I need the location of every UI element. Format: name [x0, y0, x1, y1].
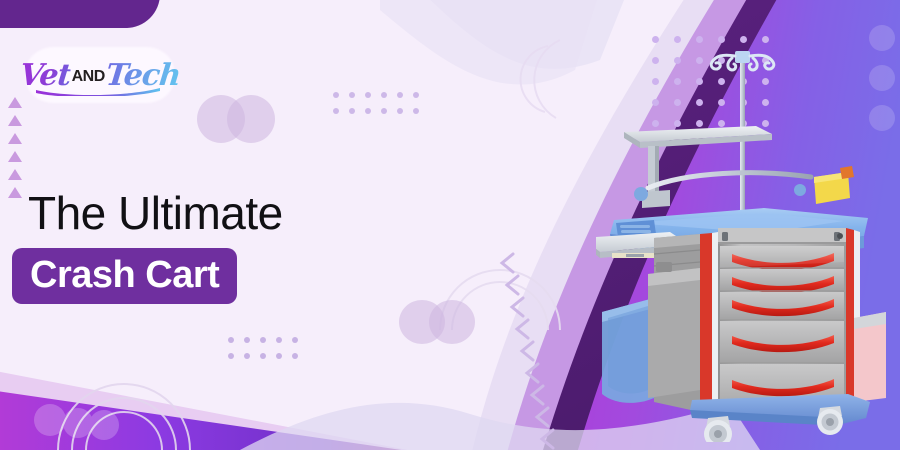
utility-bin-right	[854, 312, 886, 402]
crash-cart-image	[596, 22, 886, 442]
dot-grid-light-top	[333, 92, 429, 114]
rear-cabinet	[648, 262, 700, 398]
venn-circles-lower	[399, 300, 479, 344]
logo-swoosh-icon	[34, 86, 162, 96]
promo-banner: VetANDTech The Ultimate Crash Cart	[0, 0, 900, 450]
rail-knob	[794, 184, 806, 196]
subhead-banner: Crash Cart	[12, 248, 237, 304]
sharps-container	[814, 166, 854, 204]
triangle-icon	[8, 97, 22, 108]
triangle-icon	[8, 187, 22, 198]
triangle-icon	[8, 151, 22, 162]
triangle-icon	[8, 133, 22, 144]
triangle-column	[8, 97, 22, 205]
triangle-icon	[8, 169, 22, 180]
headline-text: The Ultimate	[28, 190, 283, 236]
logo-word-and: AND	[72, 68, 105, 86]
waste-bin-left	[602, 298, 654, 403]
venn-circles-upper	[197, 95, 277, 143]
rail-knob	[634, 187, 648, 201]
vetandtech-logo[interactable]: VetANDTech	[26, 47, 174, 103]
top-left-tab-shape	[0, 0, 160, 28]
triangle-icon	[8, 115, 22, 126]
subhead-text: Crash Cart	[30, 254, 219, 296]
dot-grid-light-bottom	[228, 337, 308, 359]
cart-drawers	[720, 246, 844, 414]
